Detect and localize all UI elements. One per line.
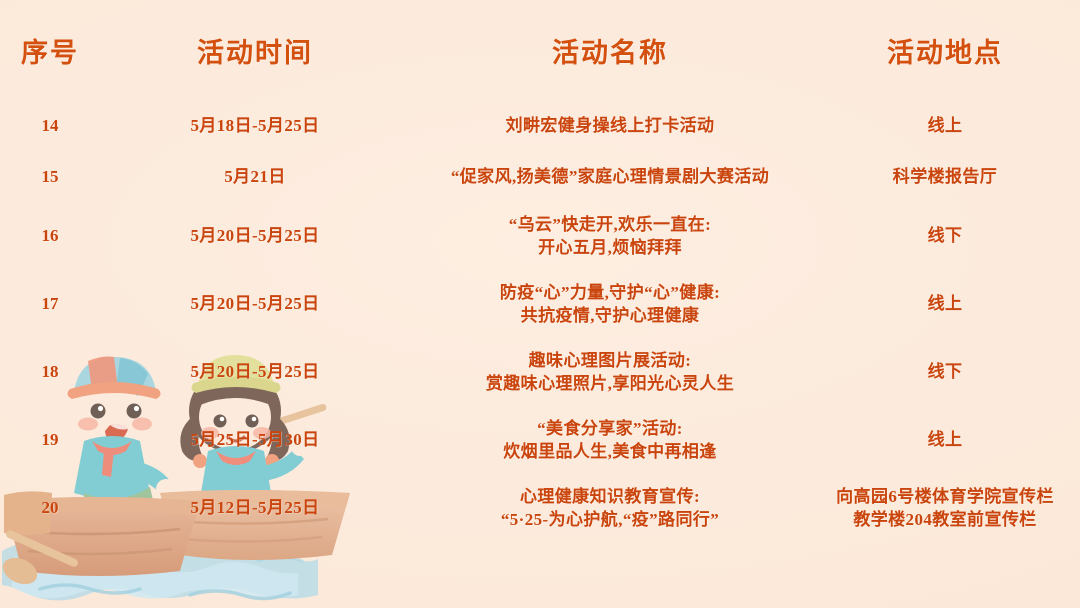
column-header-time: 活动时间 [100, 31, 410, 70]
activity-schedule-table: 序号 活动时间 活动名称 活动地点 14 5月18日-5月25日 刘畊宏健身操线… [0, 0, 1080, 608]
row-place: 线上 [810, 114, 1080, 137]
row-name: “促家风,扬美德”家庭心理情景剧大赛活动 [410, 165, 810, 188]
column-header-place: 活动地点 [810, 31, 1080, 70]
column-header-no: 序号 [0, 31, 100, 70]
row-place: 向高园6号楼体育学院宣传栏 教学楼204教室前宣传栏 [810, 485, 1080, 532]
row-no: 18 [0, 360, 100, 383]
row-time: 5月12日-5月25日 [100, 496, 410, 519]
poster-canvas: 序号 活动时间 活动名称 活动地点 14 5月18日-5月25日 刘畊宏健身操线… [0, 0, 1080, 608]
table-row: 18 5月20日-5月25日 趣味心理图片展活动: 赏趣味心理照片,享阳光心灵人… [0, 338, 1080, 406]
row-name: 趣味心理图片展活动: 赏趣味心理照片,享阳光心灵人生 [410, 349, 810, 396]
table-row: 19 5月25日-5月30日 “美食分享家”活动: 炊烟里品人生,美食中再相逢 … [0, 406, 1080, 474]
table-row: 20 5月12日-5月25日 心理健康知识教育宣传: “5·25-为心护航,“疫… [0, 474, 1080, 542]
row-name: “美食分享家”活动: 炊烟里品人生,美食中再相逢 [410, 417, 810, 464]
row-no: 16 [0, 224, 100, 247]
row-time: 5月25日-5月30日 [100, 428, 410, 451]
row-no: 17 [0, 292, 100, 315]
row-place: 线上 [810, 292, 1080, 315]
table-row: 14 5月18日-5月25日 刘畊宏健身操线上打卡活动 线上 [0, 100, 1080, 151]
row-time: 5月18日-5月25日 [100, 114, 410, 137]
row-place: 线下 [810, 360, 1080, 383]
table-row: 16 5月20日-5月25日 “乌云”快走开,欢乐一直在: 开心五月,烦恼拜拜 … [0, 202, 1080, 270]
row-name: 刘畊宏健身操线上打卡活动 [410, 114, 810, 137]
row-time: 5月20日-5月25日 [100, 224, 410, 247]
row-time: 5月20日-5月25日 [100, 292, 410, 315]
row-place: 科学楼报告厅 [810, 165, 1080, 188]
column-header-name: 活动名称 [410, 31, 810, 70]
table-row: 15 5月21日 “促家风,扬美德”家庭心理情景剧大赛活动 科学楼报告厅 [0, 151, 1080, 202]
row-name: 防疫“心”力量,守护“心”健康: 共抗疫情,守护心理健康 [410, 281, 810, 328]
row-place: 线上 [810, 428, 1080, 451]
row-name: “乌云”快走开,欢乐一直在: 开心五月,烦恼拜拜 [410, 213, 810, 260]
row-time: 5月21日 [100, 165, 410, 188]
table-header-row: 序号 活动时间 活动名称 活动地点 [0, 0, 1080, 100]
row-no: 15 [0, 165, 100, 188]
row-no: 20 [0, 496, 100, 519]
table-row: 17 5月20日-5月25日 防疫“心”力量,守护“心”健康: 共抗疫情,守护心… [0, 270, 1080, 338]
row-no: 19 [0, 428, 100, 451]
row-time: 5月20日-5月25日 [100, 360, 410, 383]
row-name: 心理健康知识教育宣传: “5·25-为心护航,“疫”路同行” [410, 485, 810, 532]
row-no: 14 [0, 114, 100, 137]
row-place: 线下 [810, 224, 1080, 247]
